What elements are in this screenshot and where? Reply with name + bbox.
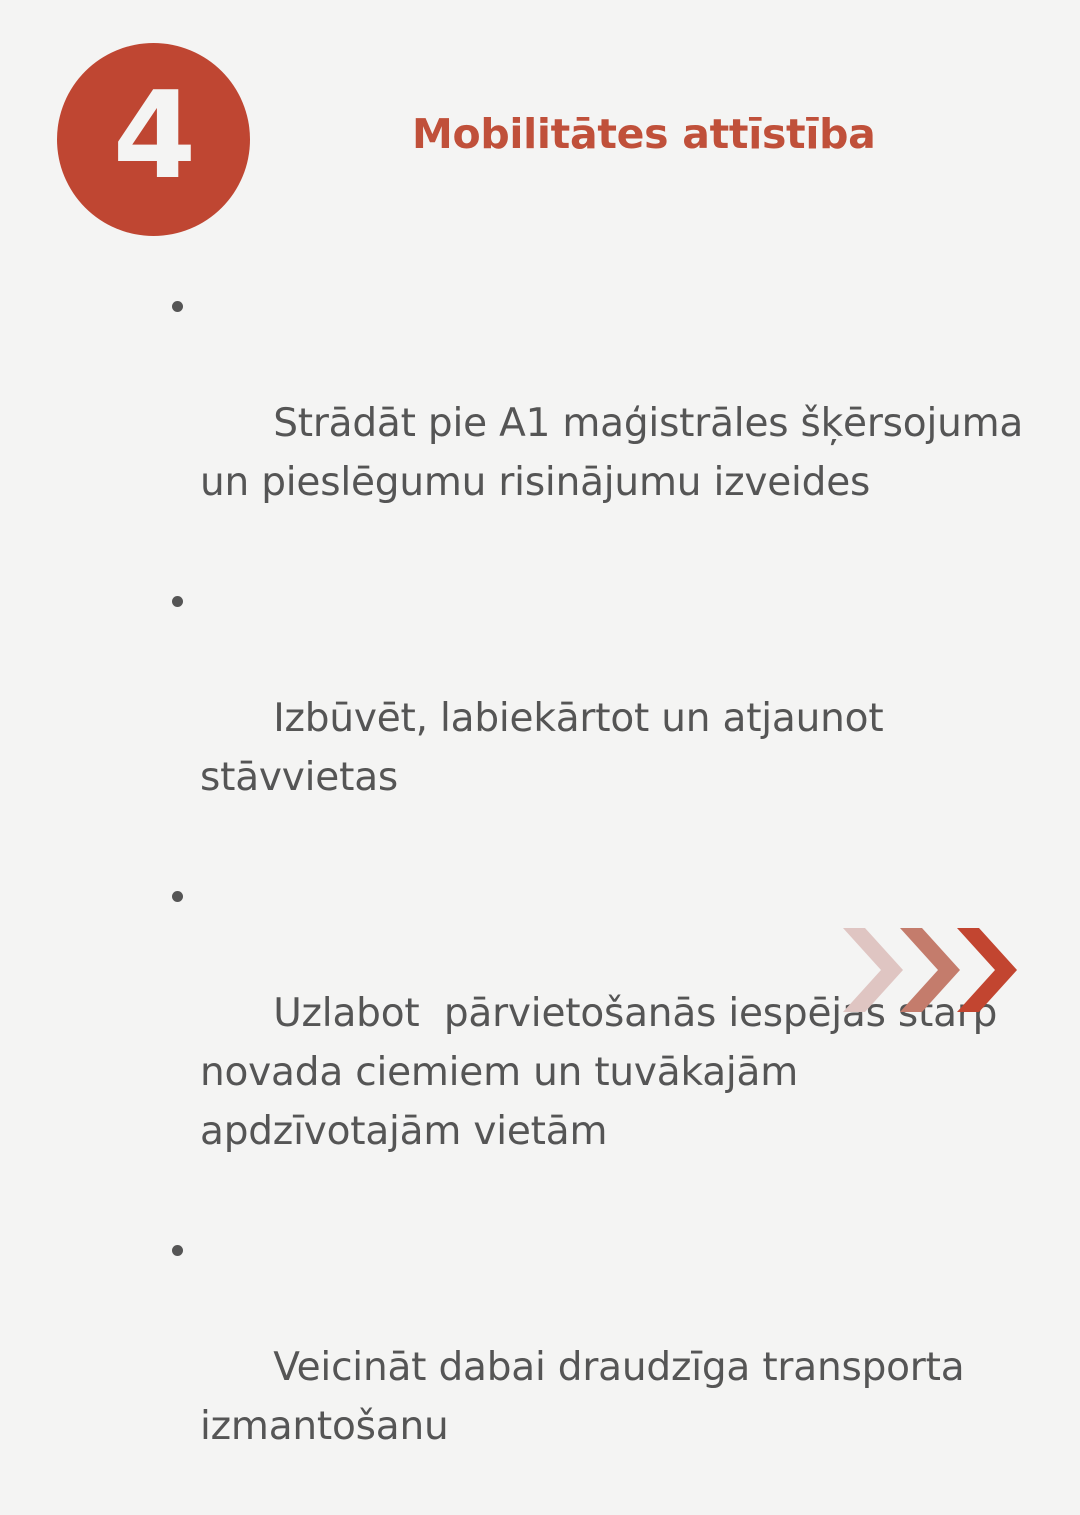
- list-item-label: Strādāt pie A1 maģistrāles šķērsojuma un…: [200, 401, 1035, 505]
- list-item-label: Veicināt dabai draudzīga transporta izma…: [200, 1345, 977, 1449]
- bullet-dot-icon: [172, 596, 183, 607]
- bullet-list: Strādāt pie A1 maģistrāles šķērsojuma un…: [160, 276, 1030, 1515]
- step-number-badge: 4: [57, 43, 250, 236]
- chevron-right-icon-dark: [957, 928, 1017, 1012]
- list-item: Uzlabot pārvietošanās iespējas starp nov…: [160, 866, 1030, 1220]
- step-number-label: 4: [113, 77, 195, 197]
- page-title: Mobilitātes attīstība: [412, 110, 1032, 159]
- chevron-right-icon-medium: [900, 928, 960, 1012]
- bullet-dot-icon: [172, 891, 183, 902]
- chevron-decoration: [843, 928, 1019, 1016]
- list-item: Izbūvēt, labiekārtot un atjaunot stāvvie…: [160, 571, 1030, 866]
- list-item: Strādāt pie A1 maģistrāles šķērsojuma un…: [160, 276, 1030, 571]
- slide-canvas: 4 Mobilitātes attīstība Strādāt pie A1 m…: [0, 0, 1080, 1080]
- list-item: Veicināt dabai draudzīga transporta izma…: [160, 1220, 1030, 1515]
- slide-header: 4 Mobilitātes attīstība: [0, 0, 1080, 250]
- bullet-dot-icon: [172, 1245, 183, 1256]
- list-item-label: Izbūvēt, labiekārtot un atjaunot stāvvie…: [200, 696, 896, 800]
- chevron-right-icon-light: [843, 928, 903, 1012]
- bullet-dot-icon: [172, 301, 183, 312]
